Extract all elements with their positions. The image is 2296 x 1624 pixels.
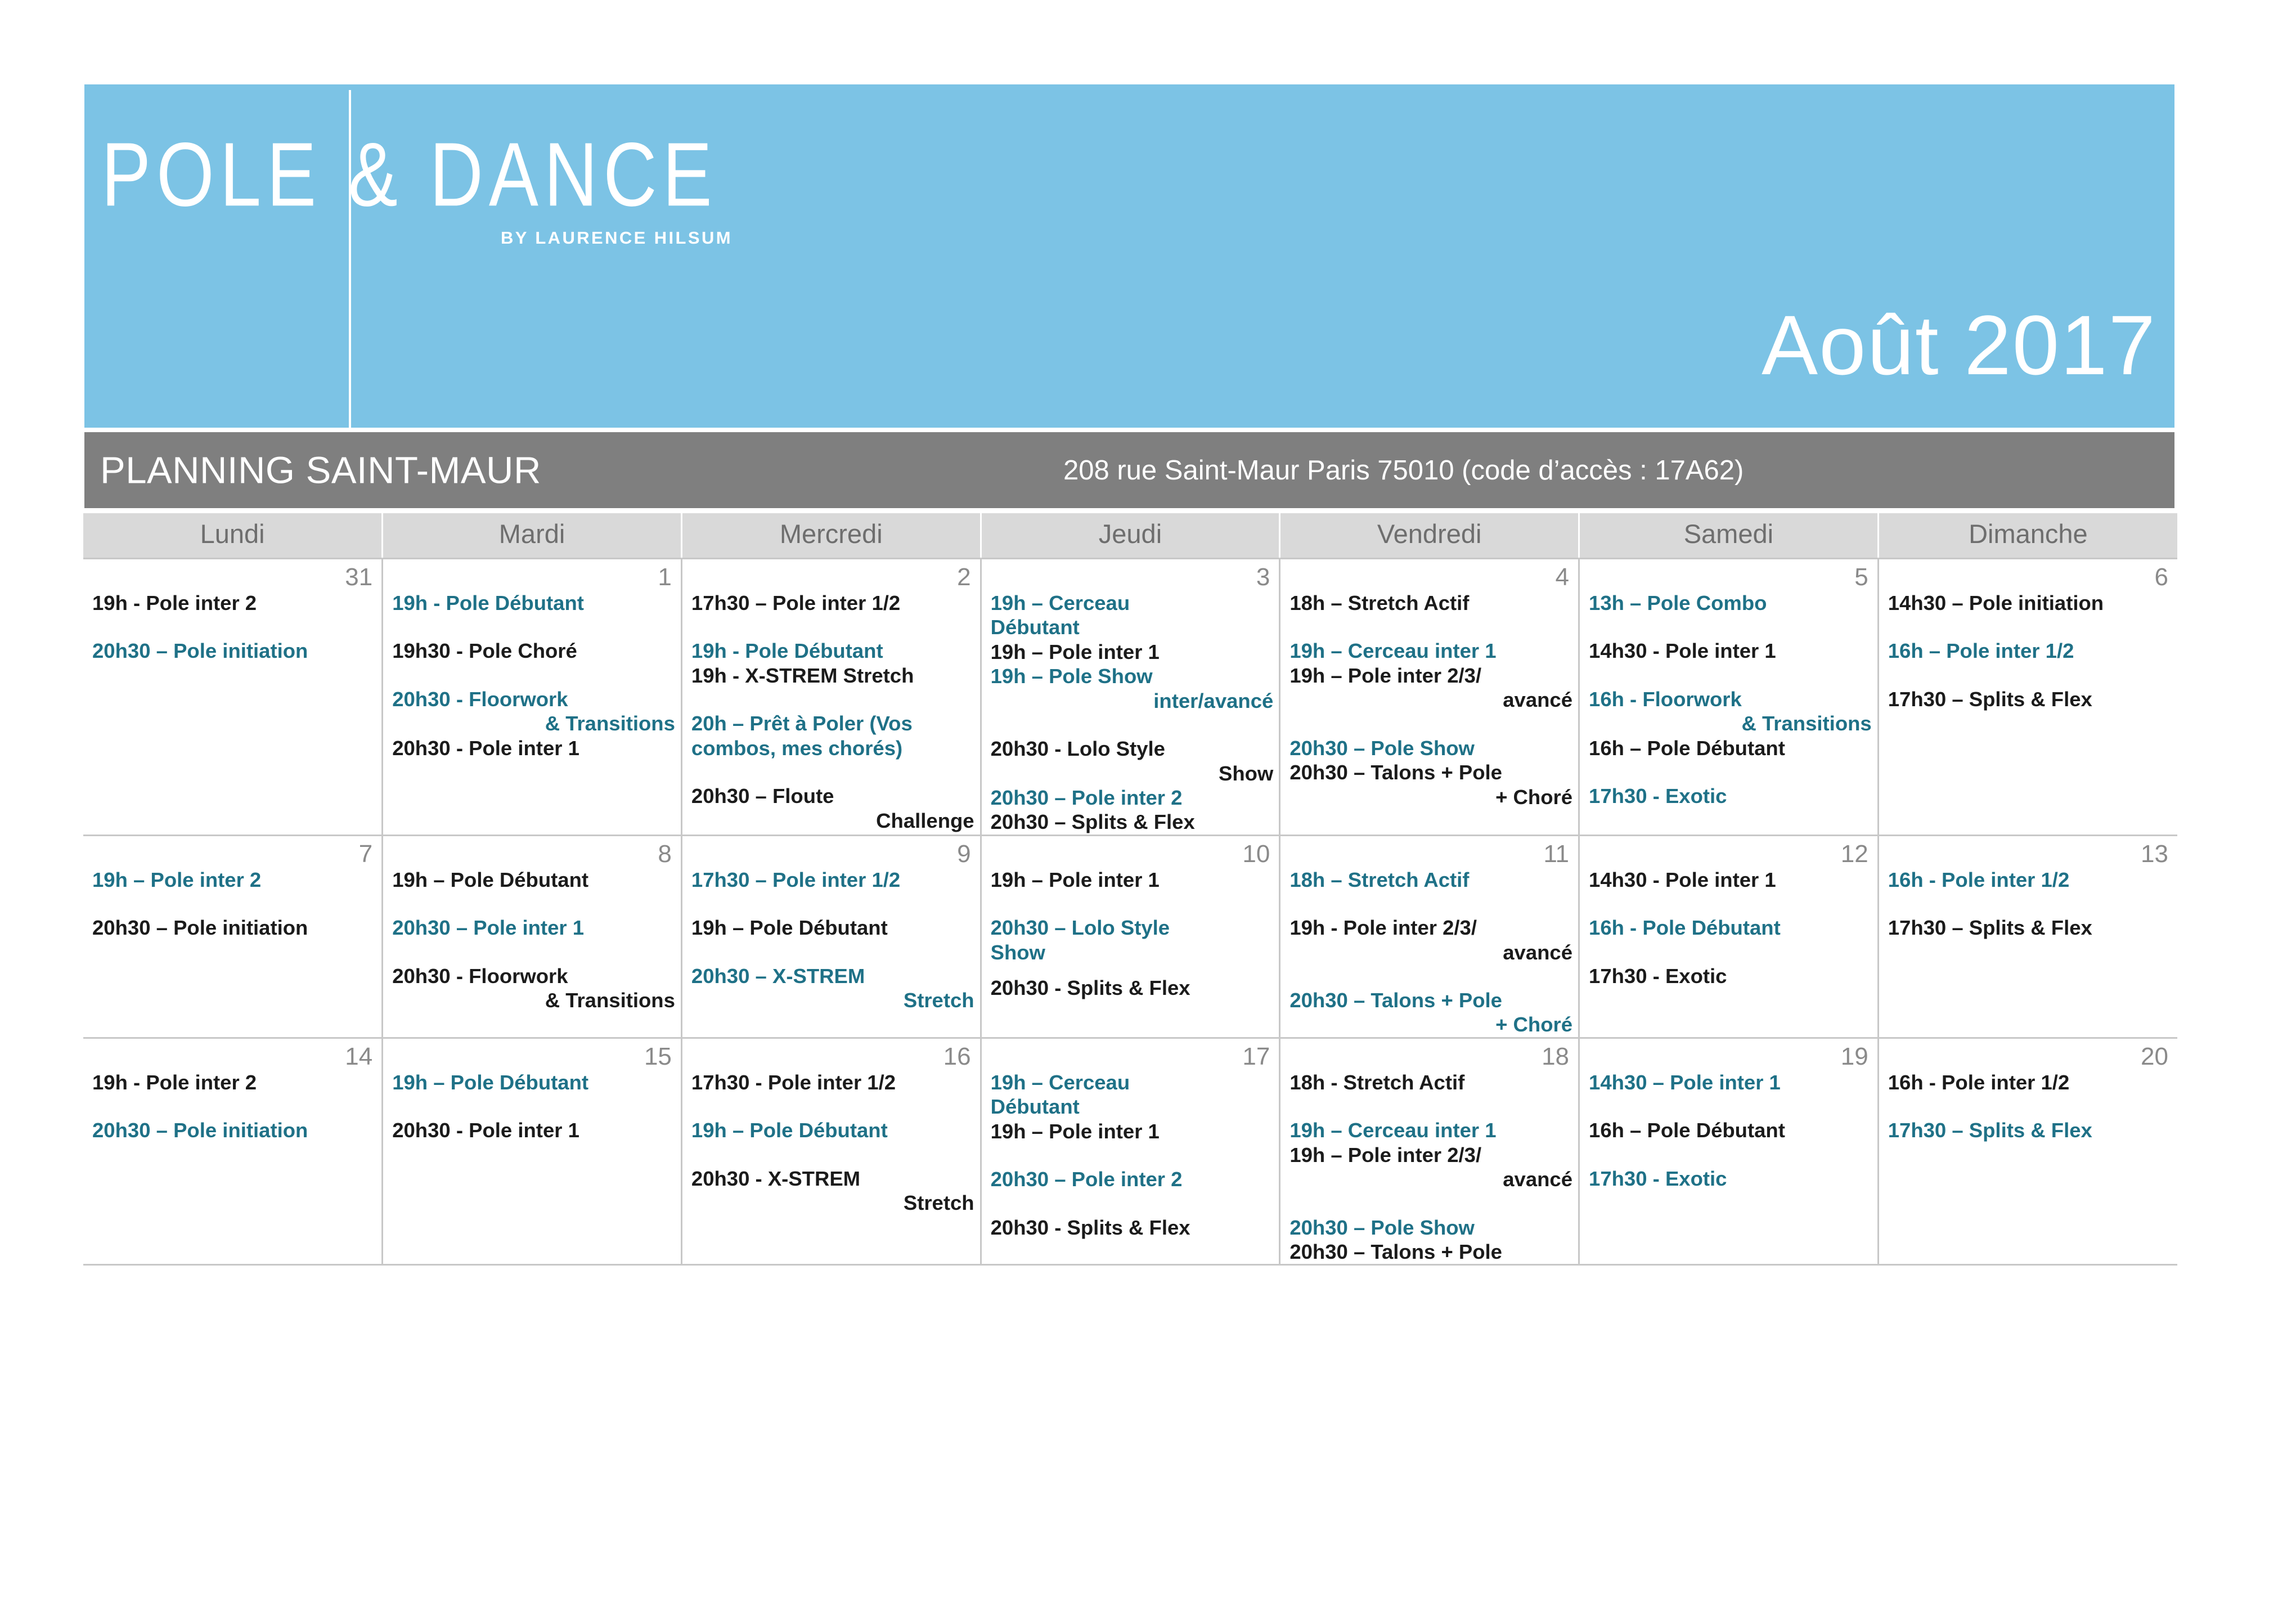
class-event[interactable]: 20h30 - Pole inter 1 bbox=[392, 1118, 675, 1142]
class-event-label: 19h - Pole inter 2 bbox=[92, 591, 257, 614]
calendar-day-cell[interactable]: 1316h - Pole inter 1/217h30 – Splits & F… bbox=[1878, 835, 2177, 1038]
day-events: 17h30 – Pole inter 1/219h - Pole Débutan… bbox=[682, 590, 980, 833]
class-event[interactable]: 20h30 - X-STREMStretch bbox=[691, 1167, 974, 1215]
day-events: 18h - Stretch Actif19h – Cerceau inter 1… bbox=[1280, 1069, 1578, 1264]
calendar-day-cell[interactable]: 1019h – Pole inter 120h30 – Lolo Style S… bbox=[981, 835, 1280, 1038]
class-event[interactable]: 14h30 – Pole initiation bbox=[1888, 591, 2172, 615]
class-event-label: 18h – Stretch Actif bbox=[1289, 591, 1469, 614]
class-event[interactable]: 19h – Pole inter 2/3/avancé bbox=[1289, 1143, 1572, 1192]
class-event-label: 19h – Cerceau inter 1 bbox=[1289, 639, 1496, 662]
class-event-label: 20h30 – X-STREM bbox=[691, 964, 865, 988]
day-number: 10 bbox=[982, 836, 1279, 867]
class-event-continuation: avancé bbox=[1289, 688, 1572, 712]
day-number: 19 bbox=[1580, 1039, 1877, 1069]
class-event[interactable]: 20h30 - Splits & Flex bbox=[991, 1215, 1274, 1240]
day-events: 19h - Pole inter 220h30 – Pole initiatio… bbox=[83, 590, 381, 663]
class-event-label: 19h – Pole Débutant bbox=[691, 916, 888, 939]
class-event[interactable]: 19h – Pole inter 2/3/avancé bbox=[1289, 663, 1572, 712]
class-event-label: 17h30 – Splits & Flex bbox=[1888, 688, 2092, 711]
class-event[interactable]: 20h30 – Talons + Pole bbox=[1289, 1240, 1572, 1264]
class-event[interactable]: 20h30 - Floorwork& Transitions bbox=[392, 964, 675, 1013]
day-events: 17h30 – Pole inter 1/219h – Pole Débutan… bbox=[682, 867, 980, 1013]
class-event[interactable]: 17h30 - Exotic bbox=[1589, 964, 1872, 988]
day-number: 8 bbox=[383, 836, 681, 867]
class-event[interactable]: 17h30 – Splits & Flex bbox=[1888, 1118, 2172, 1142]
weekday-mardi: Mardi bbox=[383, 513, 682, 559]
class-event[interactable]: 20h30 – Pole inter 2 bbox=[991, 1167, 1274, 1191]
class-event-label: 19h - Pole Débutant bbox=[691, 639, 883, 662]
class-event-continuation: Stretch bbox=[691, 988, 974, 1012]
day-number: 14 bbox=[83, 1039, 381, 1069]
class-event-label: 20h30 – Pole initiation bbox=[92, 916, 308, 939]
class-event[interactable]: 13h – Pole Combo bbox=[1589, 591, 1872, 615]
class-event[interactable]: 17h30 - Exotic bbox=[1589, 784, 1872, 808]
class-event[interactable]: 19h – Cerceau inter 1 bbox=[1289, 639, 1572, 663]
class-event-label: 20h30 - Pole inter 1 bbox=[392, 737, 579, 760]
class-event[interactable]: 19h - Pole Débutant bbox=[392, 591, 675, 615]
class-event[interactable]: 19h – Cerceau Débutant bbox=[991, 591, 1274, 640]
day-number: 12 bbox=[1580, 836, 1877, 867]
class-event-label: 16h - Pole inter 1/2 bbox=[1888, 868, 2070, 891]
weekday-mercredi: Mercredi bbox=[681, 513, 981, 559]
class-event[interactable]: 19h – Pole Débutant bbox=[392, 868, 675, 892]
day-number: 9 bbox=[682, 836, 980, 867]
class-event-continuation: inter/avancé bbox=[991, 689, 1274, 713]
class-event[interactable]: 17h30 - Exotic bbox=[1589, 1167, 1872, 1191]
calendar-day-cell[interactable]: 1719h – Cerceau Débutant19h – Pole inter… bbox=[981, 1038, 1280, 1265]
day-number: 7 bbox=[83, 836, 381, 867]
class-event-label: 20h30 – Pole inter 2 bbox=[991, 786, 1183, 809]
day-number: 16 bbox=[682, 1039, 980, 1069]
class-event[interactable]: 17h30 – Pole inter 1/2 bbox=[691, 868, 974, 892]
class-event[interactable]: 19h – Pole inter 1 bbox=[991, 1119, 1274, 1143]
class-event-label: 20h30 – Pole initiation bbox=[92, 1119, 308, 1142]
calendar-day-cell[interactable]: 1214h30 - Pole inter 116h - Pole Débutan… bbox=[1579, 835, 1879, 1038]
class-event-label: 19h30 - Pole Choré bbox=[392, 639, 577, 662]
class-event-label: 19h – Pole Débutant bbox=[392, 868, 588, 891]
day-events: 13h – Pole Combo14h30 - Pole inter 116h … bbox=[1580, 590, 1877, 809]
day-events: 19h – Pole inter 220h30 – Pole initiatio… bbox=[83, 867, 381, 940]
class-event[interactable]: 20h30 – FlouteChallenge bbox=[691, 784, 974, 833]
class-event[interactable]: 16h – Pole Débutant bbox=[1589, 736, 1872, 760]
class-event[interactable]: 19h - Pole inter 2 bbox=[92, 591, 376, 615]
calendar-day-cell[interactable]: 1419h - Pole inter 220h30 – Pole initiat… bbox=[83, 1038, 383, 1265]
class-event-label: 19h – Pole inter 1 bbox=[991, 868, 1160, 891]
class-event-label: 20h – Prêt à Poler (Vos combos, mes chor… bbox=[691, 712, 913, 759]
class-event-label: 19h – Pole inter 1 bbox=[991, 640, 1160, 663]
day-number: 15 bbox=[383, 1039, 681, 1069]
class-event-label: 20h30 – Lolo Style Show bbox=[991, 916, 1170, 963]
class-event[interactable]: 16h - Floorwork& Transitions bbox=[1589, 687, 1872, 736]
day-events: 19h – Pole Débutant20h30 - Pole inter 1 bbox=[383, 1069, 681, 1143]
day-number: 2 bbox=[682, 559, 980, 590]
class-event[interactable]: 20h30 – Pole initiation bbox=[92, 1118, 376, 1142]
class-event[interactable]: 17h30 - Pole inter 1/2 bbox=[691, 1070, 974, 1094]
class-event[interactable]: 20h30 – Pole initiation bbox=[92, 639, 376, 663]
class-event[interactable]: 16h - Pole inter 1/2 bbox=[1888, 1070, 2172, 1094]
class-event-label: 16h – Pole Débutant bbox=[1589, 737, 1785, 760]
logo-subtitle: BY LAURENCE HILSUM bbox=[501, 228, 733, 248]
class-event[interactable]: 19h – Pole Débutant bbox=[691, 1118, 974, 1142]
class-event[interactable]: 19h – Pole Showinter/avancé bbox=[991, 664, 1274, 713]
class-event-label: 17h30 - Exotic bbox=[1589, 964, 1727, 988]
calendar-day-cell[interactable]: 1818h - Stretch Actif19h – Cerceau inter… bbox=[1280, 1038, 1579, 1265]
calendar-day-cell[interactable]: 1118h – Stretch Actif19h - Pole inter 2/… bbox=[1280, 835, 1579, 1038]
class-event-continuation: & Transitions bbox=[1589, 711, 1872, 735]
weekday-jeudi: Jeudi bbox=[981, 513, 1280, 559]
class-event[interactable]: 16h – Pole inter 1/2 bbox=[1888, 639, 2172, 663]
class-event-label: 19h – Pole inter 1 bbox=[991, 1120, 1160, 1143]
class-event-continuation: & Transitions bbox=[392, 711, 675, 735]
day-number: 1 bbox=[383, 559, 681, 590]
class-event[interactable]: 19h30 - Pole Choré bbox=[392, 639, 675, 663]
class-event[interactable]: 16h – Pole Débutant bbox=[1589, 1118, 1872, 1142]
class-event-label: 20h30 – Pole inter 2 bbox=[991, 1168, 1183, 1191]
class-event[interactable]: 19h - Pole inter 2/3/avancé bbox=[1289, 916, 1572, 964]
class-event-label: 17h30 – Pole inter 1/2 bbox=[691, 591, 900, 614]
class-event-label: 16h – Pole inter 1/2 bbox=[1888, 639, 2074, 662]
day-events: 18h – Stretch Actif19h – Cerceau inter 1… bbox=[1280, 590, 1578, 809]
calendar-day-cell[interactable]: 119h - Pole Débutant19h30 - Pole Choré20… bbox=[383, 559, 682, 836]
class-event-label: 19h – Pole Show bbox=[991, 665, 1153, 688]
class-event[interactable]: 20h30 - Splits & Flex bbox=[991, 976, 1274, 1000]
class-event-label: 19h - Pole Débutant bbox=[392, 591, 584, 614]
class-event[interactable]: 20h30 – Pole initiation bbox=[92, 916, 376, 940]
class-event[interactable]: 19h – Cerceau inter 1 bbox=[1289, 1118, 1572, 1142]
day-number: 3 bbox=[982, 559, 1279, 590]
class-event[interactable]: 19h – Pole inter 2 bbox=[92, 868, 376, 892]
weekday-header-row: Lundi Mardi Mercredi Jeudi Vendredi Same… bbox=[83, 513, 2177, 559]
calendar-day-cell[interactable]: 819h – Pole Débutant20h30 – Pole inter 1… bbox=[383, 835, 682, 1038]
calendar-page: POLE & DANCE BY LAURENCE HILSUM Août 201… bbox=[0, 0, 2296, 1624]
calendar-week-row: 719h – Pole inter 220h30 – Pole initiati… bbox=[83, 835, 2177, 1038]
class-event-label: 20h30 - Pole inter 1 bbox=[392, 1119, 579, 1142]
class-event-label: 16h - Floorwork bbox=[1589, 688, 1742, 711]
class-event-label: 14h30 – Pole initiation bbox=[1888, 591, 2104, 614]
class-event-continuation: + Choré bbox=[1289, 785, 1572, 809]
class-event-label: 17h30 – Splits & Flex bbox=[1888, 1119, 2092, 1142]
month-title: Août 2017 bbox=[1762, 303, 2156, 387]
class-event[interactable]: 20h30 – Talons + Pole+ Choré bbox=[1289, 988, 1572, 1037]
class-event[interactable]: 20h30 – Pole Show bbox=[1289, 1215, 1572, 1240]
calendar-week-row: 3119h - Pole inter 220h30 – Pole initiat… bbox=[83, 559, 2177, 836]
class-event-label: 19h – Cerceau inter 1 bbox=[1289, 1119, 1496, 1142]
class-event-label: 19h – Pole inter 2/3/ bbox=[1289, 664, 1481, 687]
calendar-day-cell[interactable]: 3119h - Pole inter 220h30 – Pole initiat… bbox=[83, 559, 383, 836]
class-event-label: 17h30 – Pole inter 1/2 bbox=[691, 868, 900, 891]
class-event-label: 17h30 - Exotic bbox=[1589, 784, 1727, 807]
calendar-day-cell[interactable]: 513h – Pole Combo14h30 - Pole inter 116h… bbox=[1579, 559, 1879, 836]
calendar-day-cell[interactable]: 217h30 – Pole inter 1/219h - Pole Débuta… bbox=[681, 559, 981, 836]
day-events: 14h30 – Pole inter 116h – Pole Débutant1… bbox=[1580, 1069, 1877, 1191]
day-number: 5 bbox=[1580, 559, 1877, 590]
calendar-day-cell[interactable]: 319h – Cerceau Débutant19h – Pole inter … bbox=[981, 559, 1280, 836]
day-number: 6 bbox=[1879, 559, 2177, 590]
day-events: 14h30 - Pole inter 116h - Pole Débutant1… bbox=[1580, 867, 1877, 988]
class-event[interactable]: 18h – Stretch Actif bbox=[1289, 868, 1572, 892]
class-event-label: 20h30 – Splits & Flex bbox=[991, 810, 1195, 833]
class-event-label: 14h30 - Pole inter 1 bbox=[1589, 639, 1776, 662]
planning-address: 208 rue Saint-Maur Paris 75010 (code d’a… bbox=[1063, 455, 1744, 486]
class-event-continuation: + Choré bbox=[1289, 1012, 1572, 1037]
weekday-dimanche: Dimanche bbox=[1878, 513, 2177, 559]
calendar-day-cell[interactable]: 614h30 – Pole initiation16h – Pole inter… bbox=[1878, 559, 2177, 836]
day-events: 17h30 - Pole inter 1/219h – Pole Débutan… bbox=[682, 1069, 980, 1215]
day-events: 19h - Pole Débutant19h30 - Pole Choré20h… bbox=[383, 590, 681, 760]
class-event[interactable]: 14h30 - Pole inter 1 bbox=[1589, 639, 1872, 663]
day-events: 19h – Cerceau Débutant19h – Pole inter 1… bbox=[982, 1069, 1279, 1240]
class-event-label: 16h – Pole Débutant bbox=[1589, 1119, 1785, 1142]
class-event[interactable]: 19h – Pole inter 1 bbox=[991, 868, 1274, 892]
class-event-continuation: Show bbox=[991, 761, 1274, 786]
class-event-continuation: Stretch bbox=[691, 1191, 974, 1215]
class-event-label: 20h30 – Floute bbox=[691, 784, 834, 807]
class-event-label: 20h30 - X-STREM bbox=[691, 1167, 860, 1190]
class-event[interactable]: 19h - Pole inter 2 bbox=[92, 1070, 376, 1094]
class-event-label: 19h – Cerceau Débutant bbox=[991, 1071, 1130, 1118]
day-events: 19h – Pole inter 120h30 – Lolo Style Sho… bbox=[982, 867, 1279, 1001]
class-event-label: 19h - Pole inter 2/3/ bbox=[1289, 916, 1477, 939]
class-event[interactable]: 18h – Stretch Actif bbox=[1289, 591, 1572, 615]
class-event[interactable]: 17h30 – Splits & Flex bbox=[1888, 916, 2172, 940]
planning-titlebar: PLANNING SAINT-MAUR 208 rue Saint-Maur P… bbox=[84, 432, 2174, 508]
class-event[interactable]: 20h – Prêt à Poler (Vos combos, mes chor… bbox=[691, 711, 974, 760]
class-event-label: 20h30 - Lolo Style bbox=[991, 737, 1165, 760]
calendar-day-cell[interactable]: 1519h – Pole Débutant20h30 - Pole inter … bbox=[383, 1038, 682, 1265]
class-event-label: 20h30 - Floorwork bbox=[392, 964, 568, 988]
class-event-label: 14h30 - Pole inter 1 bbox=[1589, 868, 1776, 891]
class-event[interactable]: 19h - X-STREM Stretch bbox=[691, 663, 974, 688]
class-event[interactable]: 20h30 – Talons + Pole+ Choré bbox=[1289, 760, 1572, 809]
class-event[interactable]: 16h - Pole Débutant bbox=[1589, 916, 1872, 940]
day-number: 31 bbox=[83, 559, 381, 590]
day-events: 19h – Pole Débutant20h30 – Pole inter 12… bbox=[383, 867, 681, 1013]
class-event-label: 20h30 - Floorwork bbox=[392, 688, 568, 711]
class-event[interactable]: 20h30 - Lolo StyleShow bbox=[991, 737, 1274, 786]
class-event-continuation: avancé bbox=[1289, 1167, 1572, 1191]
class-event-label: 19h – Pole Débutant bbox=[392, 1071, 588, 1094]
class-event[interactable]: 20h30 – Pole inter 2 bbox=[991, 786, 1274, 810]
class-event-label: 19h – Pole inter 2/3/ bbox=[1289, 1143, 1481, 1167]
day-number: 4 bbox=[1280, 559, 1578, 590]
day-number: 20 bbox=[1879, 1039, 2177, 1069]
brand-logo: POLE & DANCE bbox=[101, 129, 776, 204]
calendar-table: Lundi Mardi Mercredi Jeudi Vendredi Same… bbox=[83, 513, 2177, 1266]
weekday-lundi: Lundi bbox=[83, 513, 383, 559]
class-event-continuation: & Transitions bbox=[392, 988, 675, 1012]
class-event-label: 20h30 – Pole Show bbox=[1289, 737, 1475, 760]
calendar-day-cell[interactable]: 2016h - Pole inter 1/217h30 – Splits & F… bbox=[1878, 1038, 2177, 1265]
class-event[interactable]: 20h30 – X-STREMStretch bbox=[691, 964, 974, 1013]
class-event[interactable]: 18h - Stretch Actif bbox=[1289, 1070, 1572, 1094]
class-event-label: 17h30 - Pole inter 1/2 bbox=[691, 1071, 896, 1094]
class-event-label: 20h30 - Splits & Flex bbox=[991, 1216, 1190, 1239]
day-events: 16h - Pole inter 1/217h30 – Splits & Fle… bbox=[1879, 867, 2177, 940]
class-event[interactable]: 19h – Pole inter 1 bbox=[991, 640, 1274, 664]
class-event-label: 20h30 – Talons + Pole bbox=[1289, 1240, 1502, 1263]
class-event-label: 18h - Stretch Actif bbox=[1289, 1071, 1464, 1094]
class-event-continuation: Challenge bbox=[691, 809, 974, 833]
calendar-day-cell[interactable]: 719h – Pole inter 220h30 – Pole initiati… bbox=[83, 835, 383, 1038]
day-number: 13 bbox=[1879, 836, 2177, 867]
class-event-label: 19h – Pole Débutant bbox=[691, 1119, 888, 1142]
weekday-samedi: Samedi bbox=[1579, 513, 1879, 559]
class-event[interactable]: 20h30 – Splits & Flex bbox=[991, 810, 1274, 834]
class-event[interactable]: 14h30 – Pole inter 1 bbox=[1589, 1070, 1872, 1094]
class-event-label: 19h - X-STREM Stretch bbox=[691, 664, 914, 687]
class-event-label: 13h – Pole Combo bbox=[1589, 591, 1767, 614]
class-event-label: 20h30 – Pole Show bbox=[1289, 1216, 1475, 1239]
class-event-label: 20h30 – Talons + Pole bbox=[1289, 989, 1502, 1012]
class-event-label: 19h – Cerceau Débutant bbox=[991, 591, 1130, 639]
class-event[interactable]: 19h – Pole Débutant bbox=[691, 916, 974, 940]
logo-wordmark: POLE & DANCE bbox=[101, 129, 776, 220]
class-event[interactable]: 20h30 - Floorwork& Transitions bbox=[392, 687, 675, 736]
class-event-label: 20h30 - Splits & Flex bbox=[991, 976, 1190, 999]
class-event-label: 17h30 - Exotic bbox=[1589, 1167, 1727, 1190]
class-event-label: 16h - Pole inter 1/2 bbox=[1888, 1071, 2070, 1094]
calendar-week-row: 1419h - Pole inter 220h30 – Pole initiat… bbox=[83, 1038, 2177, 1265]
day-number: 18 bbox=[1280, 1039, 1578, 1069]
class-event-label: 19h - Pole inter 2 bbox=[92, 1071, 257, 1094]
class-event[interactable]: 20h30 – Pole inter 1 bbox=[392, 916, 675, 940]
day-events: 16h - Pole inter 1/217h30 – Splits & Fle… bbox=[1879, 1069, 2177, 1143]
class-event-label: 17h30 – Splits & Flex bbox=[1888, 916, 2092, 939]
class-event[interactable]: 20h30 – Pole Show bbox=[1289, 736, 1572, 760]
calendar-day-cell[interactable]: 1617h30 - Pole inter 1/219h – Pole Début… bbox=[681, 1038, 981, 1265]
day-events: 14h30 – Pole initiation16h – Pole inter … bbox=[1879, 590, 2177, 711]
day-number: 17 bbox=[982, 1039, 1279, 1069]
class-event[interactable]: 19h – Cerceau Débutant bbox=[991, 1070, 1274, 1119]
class-event[interactable]: 16h - Pole inter 1/2 bbox=[1888, 868, 2172, 892]
day-number: 11 bbox=[1280, 836, 1578, 867]
class-event-label: 20h30 – Pole initiation bbox=[92, 639, 308, 662]
class-event-label: 19h – Pole inter 2 bbox=[92, 868, 261, 891]
class-event-label: 16h - Pole Débutant bbox=[1589, 916, 1781, 939]
class-event[interactable]: 20h30 – Lolo Style Show bbox=[991, 916, 1274, 964]
class-event-label: 20h30 – Pole inter 1 bbox=[392, 916, 584, 939]
calendar-day-cell[interactable]: 418h – Stretch Actif19h – Cerceau inter … bbox=[1280, 559, 1579, 836]
day-events: 19h - Pole inter 220h30 – Pole initiatio… bbox=[83, 1069, 381, 1143]
class-event[interactable]: 17h30 – Splits & Flex bbox=[1888, 687, 2172, 711]
class-event-label: 20h30 – Talons + Pole bbox=[1289, 761, 1502, 784]
class-event[interactable]: 17h30 – Pole inter 1/2 bbox=[691, 591, 974, 615]
class-event[interactable]: 19h - Pole Débutant bbox=[691, 639, 974, 663]
class-event-label: 18h – Stretch Actif bbox=[1289, 868, 1469, 891]
weekday-vendredi: Vendredi bbox=[1280, 513, 1579, 559]
planning-title: PLANNING SAINT-MAUR bbox=[100, 448, 541, 492]
class-event[interactable]: 14h30 - Pole inter 1 bbox=[1589, 868, 1872, 892]
day-events: 19h – Cerceau Débutant19h – Pole inter 1… bbox=[982, 590, 1279, 835]
day-events: 18h – Stretch Actif19h - Pole inter 2/3/… bbox=[1280, 867, 1578, 1037]
class-event[interactable]: 20h30 - Pole inter 1 bbox=[392, 736, 675, 760]
calendar-day-cell[interactable]: 1914h30 – Pole inter 116h – Pole Débutan… bbox=[1579, 1038, 1879, 1265]
class-event[interactable]: 19h – Pole Débutant bbox=[392, 1070, 675, 1094]
class-event-label: 14h30 – Pole inter 1 bbox=[1589, 1071, 1781, 1094]
class-event-continuation: avancé bbox=[1289, 940, 1572, 964]
calendar-day-cell[interactable]: 917h30 – Pole inter 1/219h – Pole Débuta… bbox=[681, 835, 981, 1038]
header-banner: POLE & DANCE BY LAURENCE HILSUM Août 201… bbox=[84, 84, 2174, 428]
